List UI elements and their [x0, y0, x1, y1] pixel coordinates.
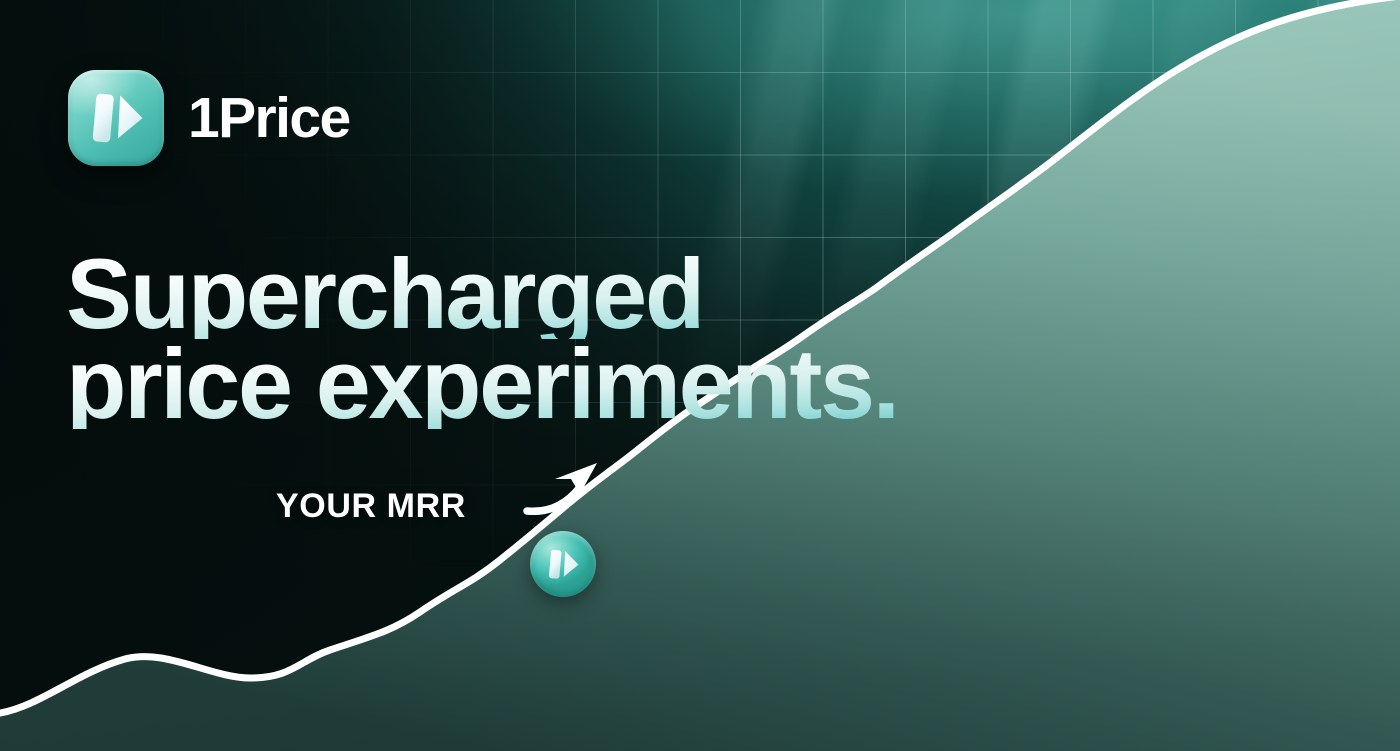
brand-name: 1Price — [188, 90, 350, 147]
1price-node-badge[interactable] — [530, 531, 596, 597]
hero-banner: 1Price Supercharged price experiments. Y… — [0, 0, 1400, 751]
page-title: Supercharged price experiments. — [66, 249, 898, 429]
pause-play-glyph-icon — [68, 70, 164, 166]
brand-lockup[interactable]: 1Price — [68, 70, 350, 166]
headline-line-2: price experiments. — [66, 339, 898, 429]
pause-play-glyph-icon — [530, 531, 596, 597]
mrr-callout-label: YOUR MRR — [276, 487, 466, 526]
headline-line-1: Supercharged — [66, 249, 898, 339]
1price-app-icon[interactable] — [68, 70, 164, 166]
